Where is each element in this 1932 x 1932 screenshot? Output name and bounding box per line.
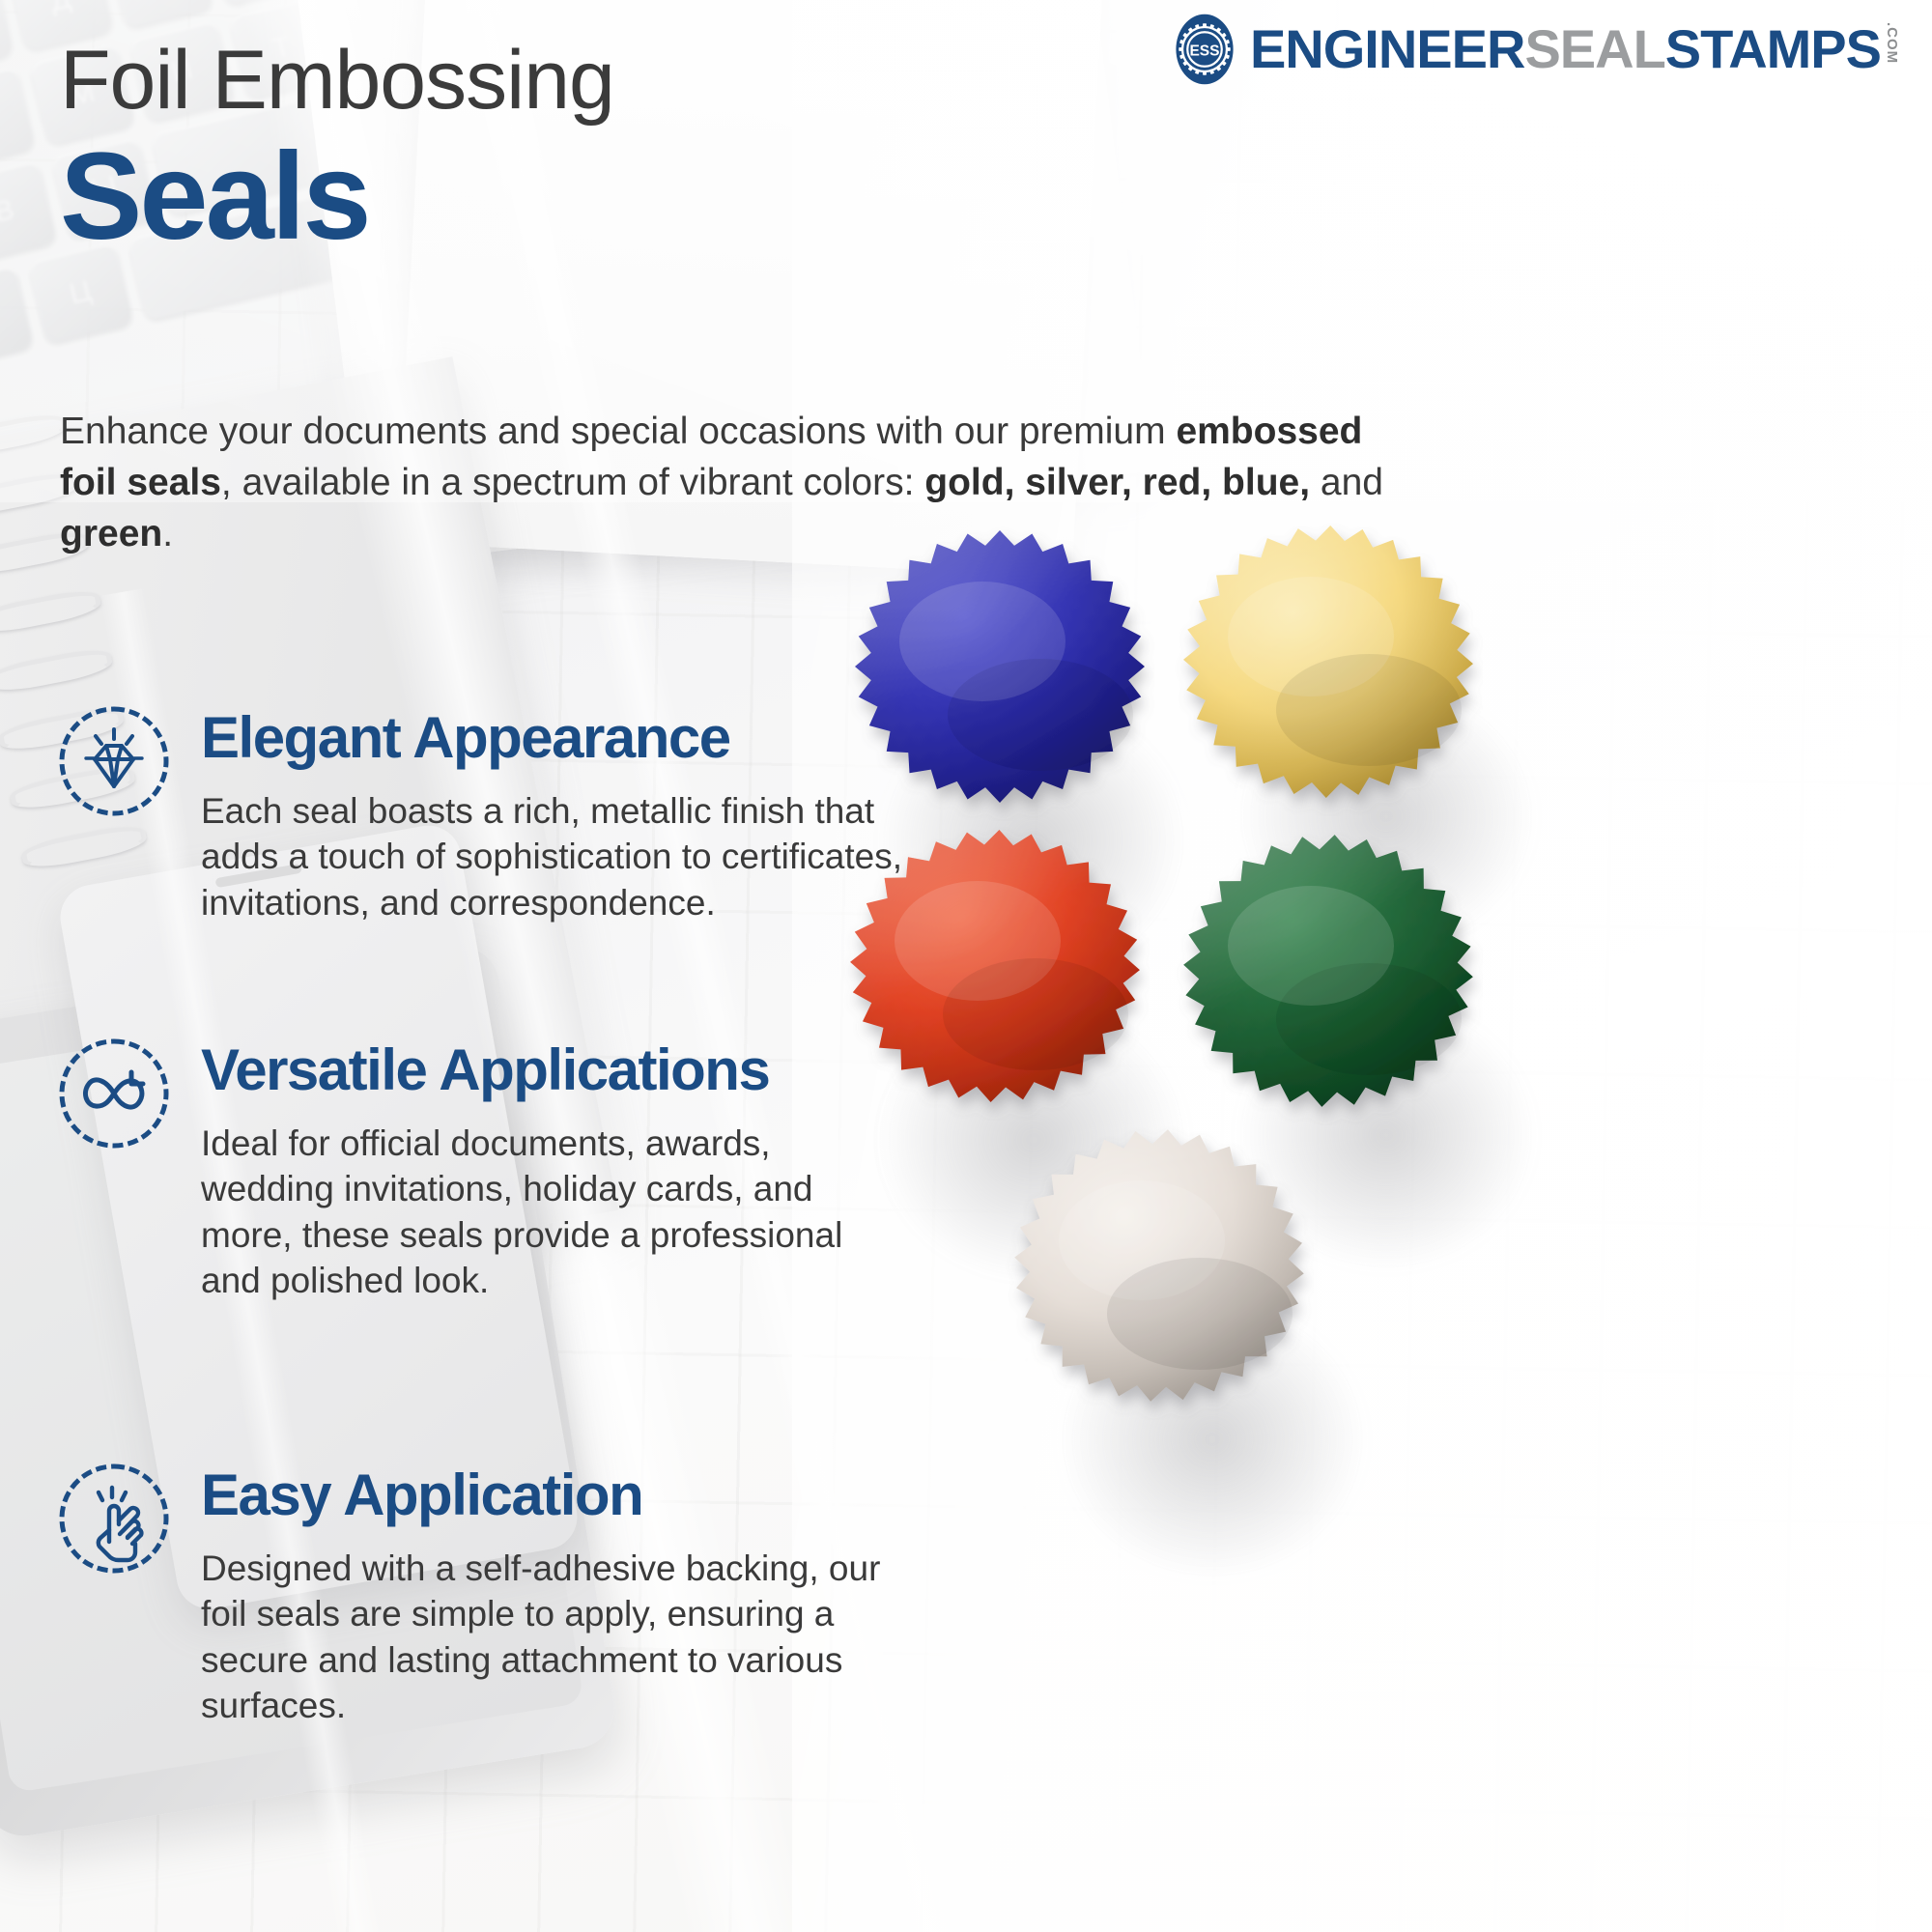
diamond-gem-icon bbox=[56, 703, 172, 819]
feature-heading: Elegant Appearance bbox=[201, 709, 906, 767]
foil-seal-blue bbox=[845, 512, 1154, 821]
foil-seal-green bbox=[1174, 816, 1483, 1125]
feature-block-elegant-appearance: Elegant Appearance Each seal boasts a ri… bbox=[56, 703, 906, 925]
feature-text: Each seal boasts a rich, metallic finish… bbox=[201, 788, 906, 925]
feature-block-versatile-applications: Versatile Applications Ideal for officia… bbox=[56, 1036, 906, 1303]
feature-block-easy-application: Easy Application Designed with a self-ad… bbox=[56, 1461, 906, 1728]
logo-mark-text: ESS bbox=[1189, 43, 1219, 60]
foil-seal-red bbox=[840, 811, 1150, 1121]
brand-logo[interactable]: ESS ENGINEERSEALSTAMPS.COM bbox=[1169, 14, 1899, 85]
intro-seg4: . bbox=[162, 513, 173, 554]
feature-text: Ideal for official documents, awards, we… bbox=[201, 1121, 906, 1303]
page-title-line1: Foil Embossing bbox=[60, 39, 614, 122]
feature-heading: Versatile Applications bbox=[201, 1041, 906, 1099]
brand-tld: .COM bbox=[1885, 22, 1899, 64]
ess-gear-badge-icon: ESS bbox=[1169, 14, 1240, 85]
foil-seal-gold bbox=[1174, 507, 1483, 816]
brand-name-part3: STAMPS bbox=[1665, 22, 1881, 76]
brand-name-part2: SEAL bbox=[1524, 22, 1664, 76]
intro-seg2: , available in a spectrum of vibrant col… bbox=[221, 462, 924, 503]
foil-seal-silver bbox=[1005, 1111, 1314, 1420]
feature-heading: Easy Application bbox=[201, 1466, 906, 1524]
brand-wordmark: ENGINEERSEALSTAMPS.COM bbox=[1250, 22, 1899, 76]
brand-name-part1: ENGINEER bbox=[1250, 22, 1525, 76]
infinity-loop-arrow-icon bbox=[56, 1036, 172, 1151]
page-title-line2: Seals bbox=[60, 135, 369, 259]
pointing-hand-tap-icon bbox=[56, 1461, 172, 1577]
intro-seg3: and bbox=[1310, 462, 1383, 503]
intro-bold-colors: gold, silver, red, blue, bbox=[924, 462, 1310, 503]
intro-bold-green: green bbox=[60, 513, 162, 554]
intro-seg1: Enhance your documents and special occas… bbox=[60, 411, 1176, 452]
feature-text: Designed with a self-adhesive backing, o… bbox=[201, 1546, 906, 1728]
